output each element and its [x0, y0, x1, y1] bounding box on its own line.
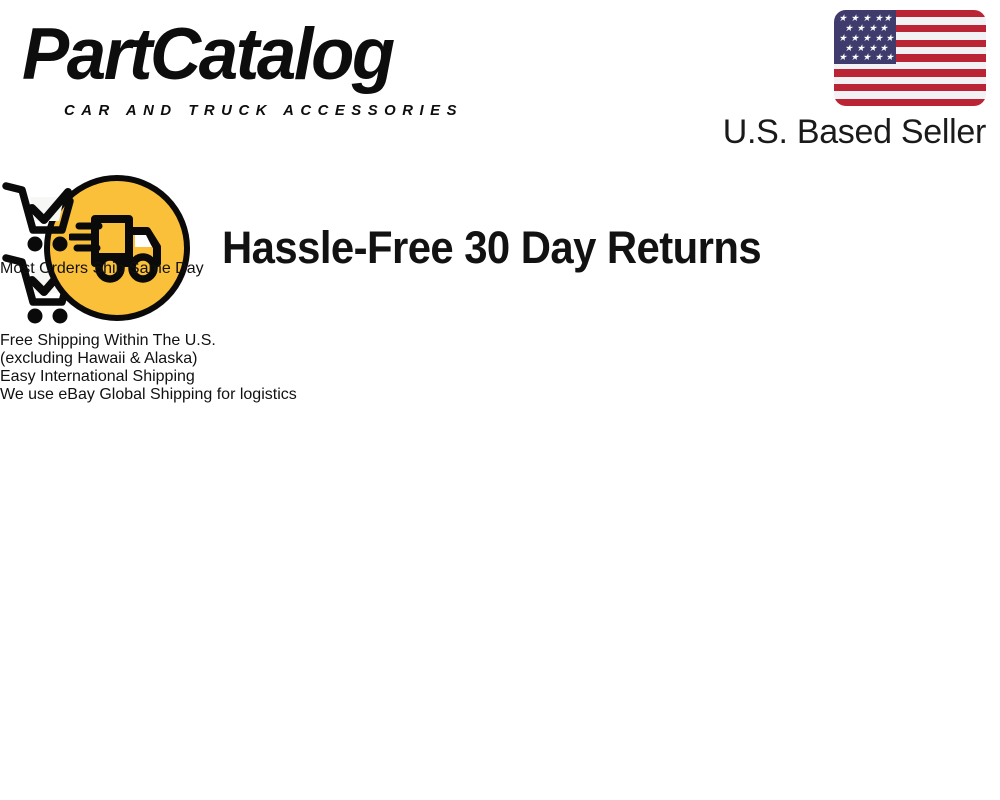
brand-wordmark: PartCatalog: [22, 16, 393, 94]
feature-subtitle-logistics: We use eBay Global Shipping for logistic…: [0, 386, 1000, 404]
feature-title: Free Shipping Within The U.S.: [0, 332, 1000, 350]
flag-canton: [834, 10, 896, 64]
us-flag-icon: [834, 10, 986, 106]
feature-text: Free Shipping Within The U.S. (excluding…: [0, 332, 1000, 404]
feature-title: Most Orders Ship Same Day: [0, 260, 1000, 278]
feature-text: Most Orders Ship Same Day: [0, 260, 1000, 278]
shopping-cart-check-icon: [0, 175, 1000, 260]
promo-banner: { "brand": { "wordmark": "PartCatalog", …: [0, 0, 1000, 800]
feature-row: Most Orders Ship Same Day: [0, 175, 1000, 278]
banner-header: PartCatalog CAR AND TRUCK ACCESSORIES: [0, 0, 1000, 175]
flag-stars: [834, 10, 896, 64]
feature-subtitle-exclusions: (excluding Hawaii & Alaska): [0, 350, 1000, 368]
us-based-seller-badge: U.S. Based Seller: [716, 10, 986, 160]
feature-list: Free Shipping Within The U.S. (excluding…: [0, 175, 1000, 800]
brand-tagline: CAR AND TRUCK ACCESSORIES: [64, 102, 463, 119]
us-based-seller-label: U.S. Based Seller: [723, 112, 986, 152]
brand-logo[interactable]: PartCatalog CAR AND TRUCK ACCESSORIES: [22, 20, 492, 115]
feature-subtitle-international: Easy International Shipping: [0, 368, 1000, 386]
